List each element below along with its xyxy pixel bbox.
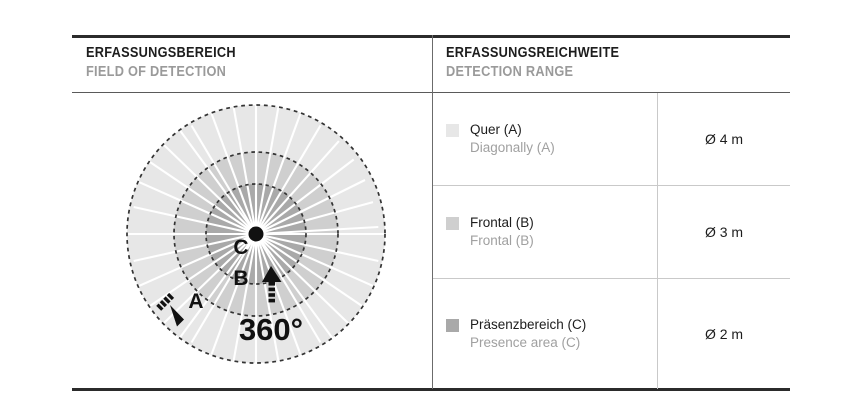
column-header-field-of-detection: ERFASSUNGSBEREICH FIELD OF DETECTION (86, 44, 256, 82)
legend-swatch-a (446, 124, 459, 137)
range-label-b: Frontal (B) Frontal (B) (446, 214, 534, 250)
range-label-en: Diagonally (A) (470, 140, 555, 155)
spec-table: ERFASSUNGSBEREICH FIELD OF DETECTION ERF… (72, 35, 790, 391)
column-header-en: DETECTION RANGE (446, 63, 619, 82)
table-row: Präsenzbereich (C) Presence area (C) Ø 2… (433, 279, 790, 389)
range-label-de: Quer (A) (470, 122, 522, 137)
range-label-de: Frontal (B) (470, 215, 534, 230)
column-header-de: ERFASSUNGSREICHWEITE (446, 44, 619, 63)
range-value-b: Ø 3 m (658, 224, 790, 240)
legend-swatch-c (446, 319, 459, 332)
column-header-de: ERFASSUNGSBEREICH (86, 44, 236, 63)
range-value-c: Ø 2 m (658, 326, 790, 342)
table-row: Frontal (B) Frontal (B) Ø 3 m (433, 186, 790, 278)
legend-swatch-b (446, 217, 459, 230)
range-label-de: Präsenzbereich (C) (470, 317, 586, 332)
column-header-en: FIELD OF DETECTION (86, 63, 236, 82)
table-top-rule (72, 35, 790, 38)
range-value-a: Ø 4 m (658, 131, 790, 147)
range-label-a: Quer (A) Diagonally (A) (446, 121, 555, 157)
detection-spec-panel: C B A 360° ERFASSUNGSBEREICH FIELD OF DE… (0, 0, 861, 420)
range-label-en: Presence area (C) (470, 335, 580, 350)
range-label-en: Frontal (B) (470, 233, 534, 248)
table-row: Quer (A) Diagonally (A) Ø 4 m (433, 93, 790, 185)
range-label-c: Präsenzbereich (C) Presence area (C) (446, 316, 586, 352)
column-header-detection-range: ERFASSUNGSREICHWEITE DETECTION RANGE (446, 44, 643, 82)
